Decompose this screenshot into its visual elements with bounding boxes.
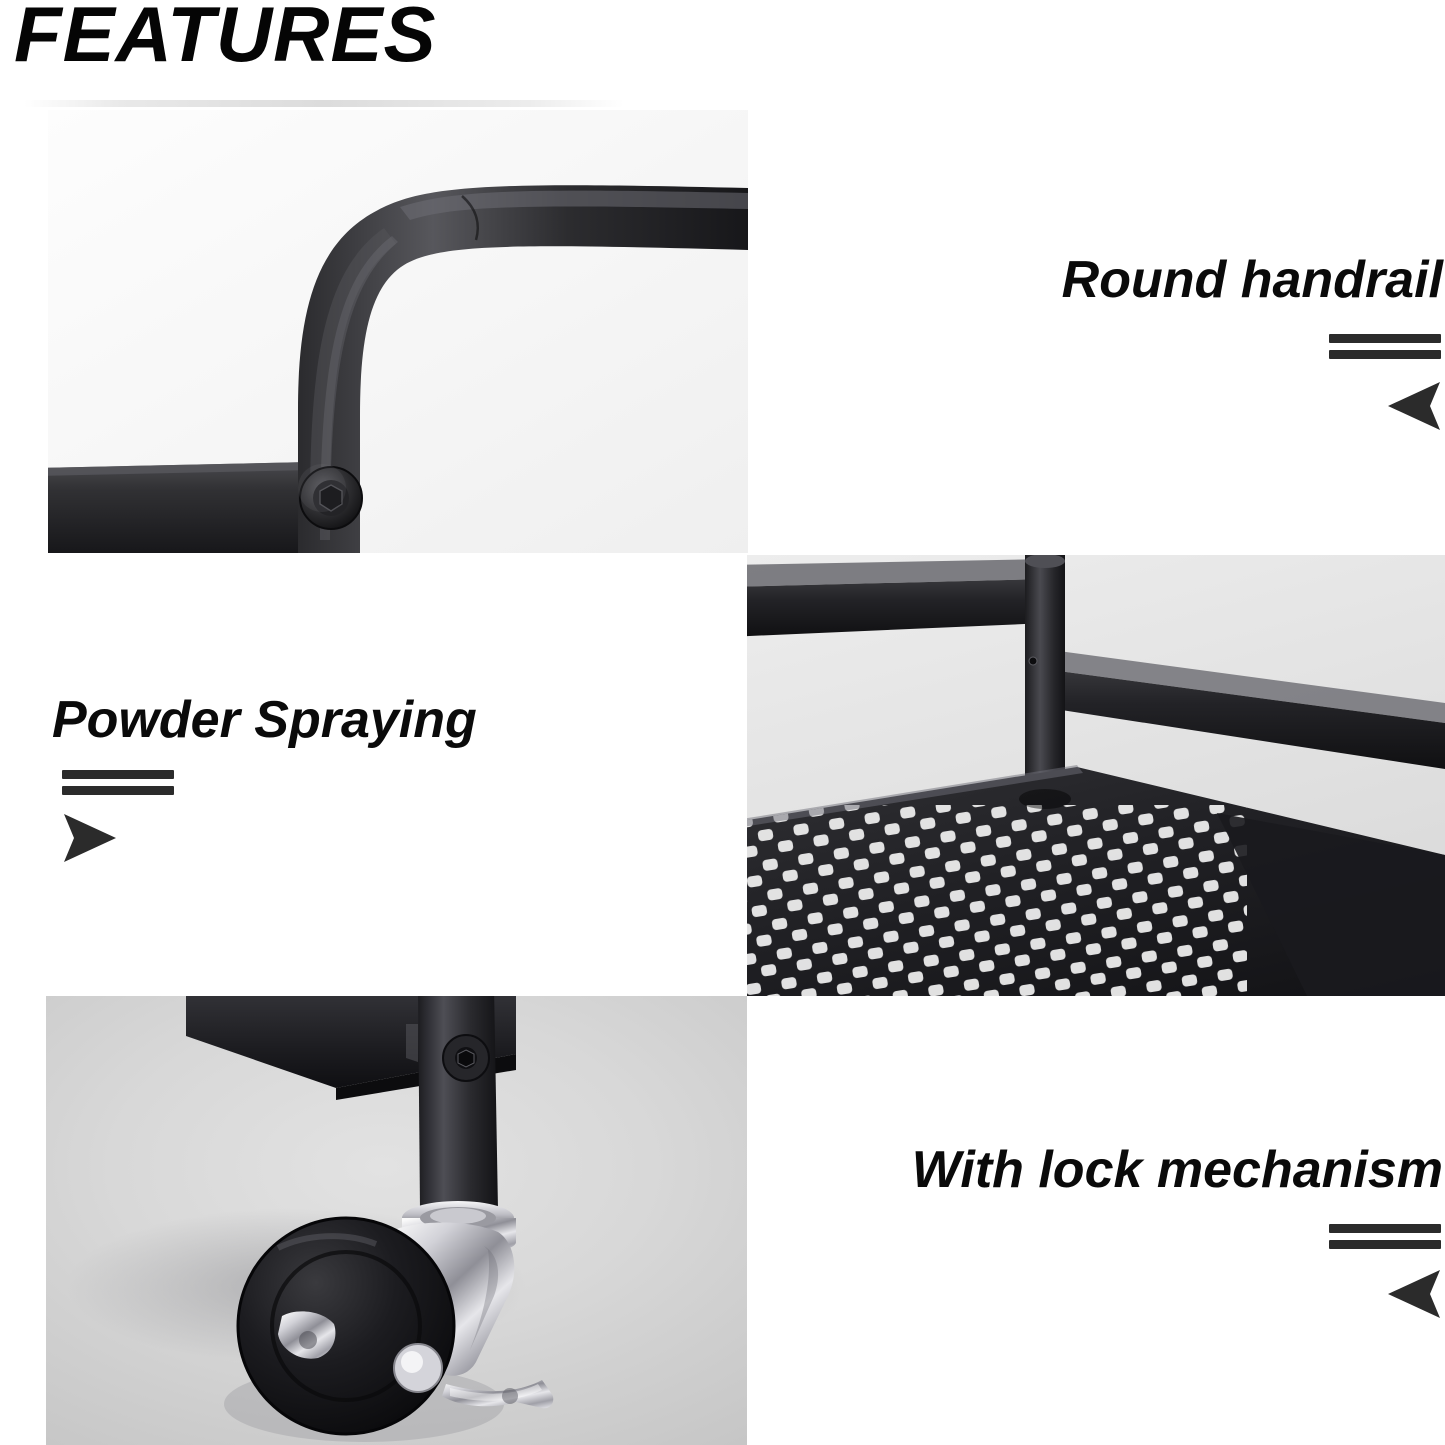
arrow-left-icon (1386, 382, 1442, 435)
rule-lower (1329, 350, 1441, 359)
callout-rules (1329, 334, 1441, 359)
photo-handrail-closeup (48, 110, 748, 553)
callout-powder-spraying: Powder Spraying (52, 692, 512, 748)
rule-upper (1329, 334, 1441, 343)
arrow-left-icon (1386, 1270, 1442, 1323)
callout-label-powder-spraying: Powder Spraying (52, 692, 512, 748)
arrow-right-icon (62, 814, 118, 867)
rule-upper (1329, 1224, 1441, 1233)
callout-round-handrail: Round handrail (1023, 252, 1443, 308)
rule-upper (62, 770, 174, 779)
page-title-block: FEATURES FEATURES (14, 0, 654, 111)
callout-rules (62, 770, 174, 795)
title-floor-line (24, 100, 624, 107)
rule-lower (1329, 1240, 1441, 1249)
callout-label-lock-mechanism: With lock mechanism (903, 1142, 1443, 1198)
shelf-artwork (747, 555, 1445, 996)
rule-lower (62, 786, 174, 795)
photo-caster-closeup (46, 996, 747, 1445)
infographic-canvas: FEATURES FEATURES (0, 0, 1445, 1445)
callout-rules (1329, 1224, 1441, 1249)
photo-shelf-closeup (747, 555, 1445, 996)
page-title: FEATURES (14, 0, 437, 72)
caster-artwork (46, 996, 747, 1445)
callout-label-round-handrail: Round handrail (1023, 252, 1443, 308)
handrail-artwork (48, 110, 748, 553)
callout-lock-mechanism: With lock mechanism (903, 1142, 1443, 1198)
